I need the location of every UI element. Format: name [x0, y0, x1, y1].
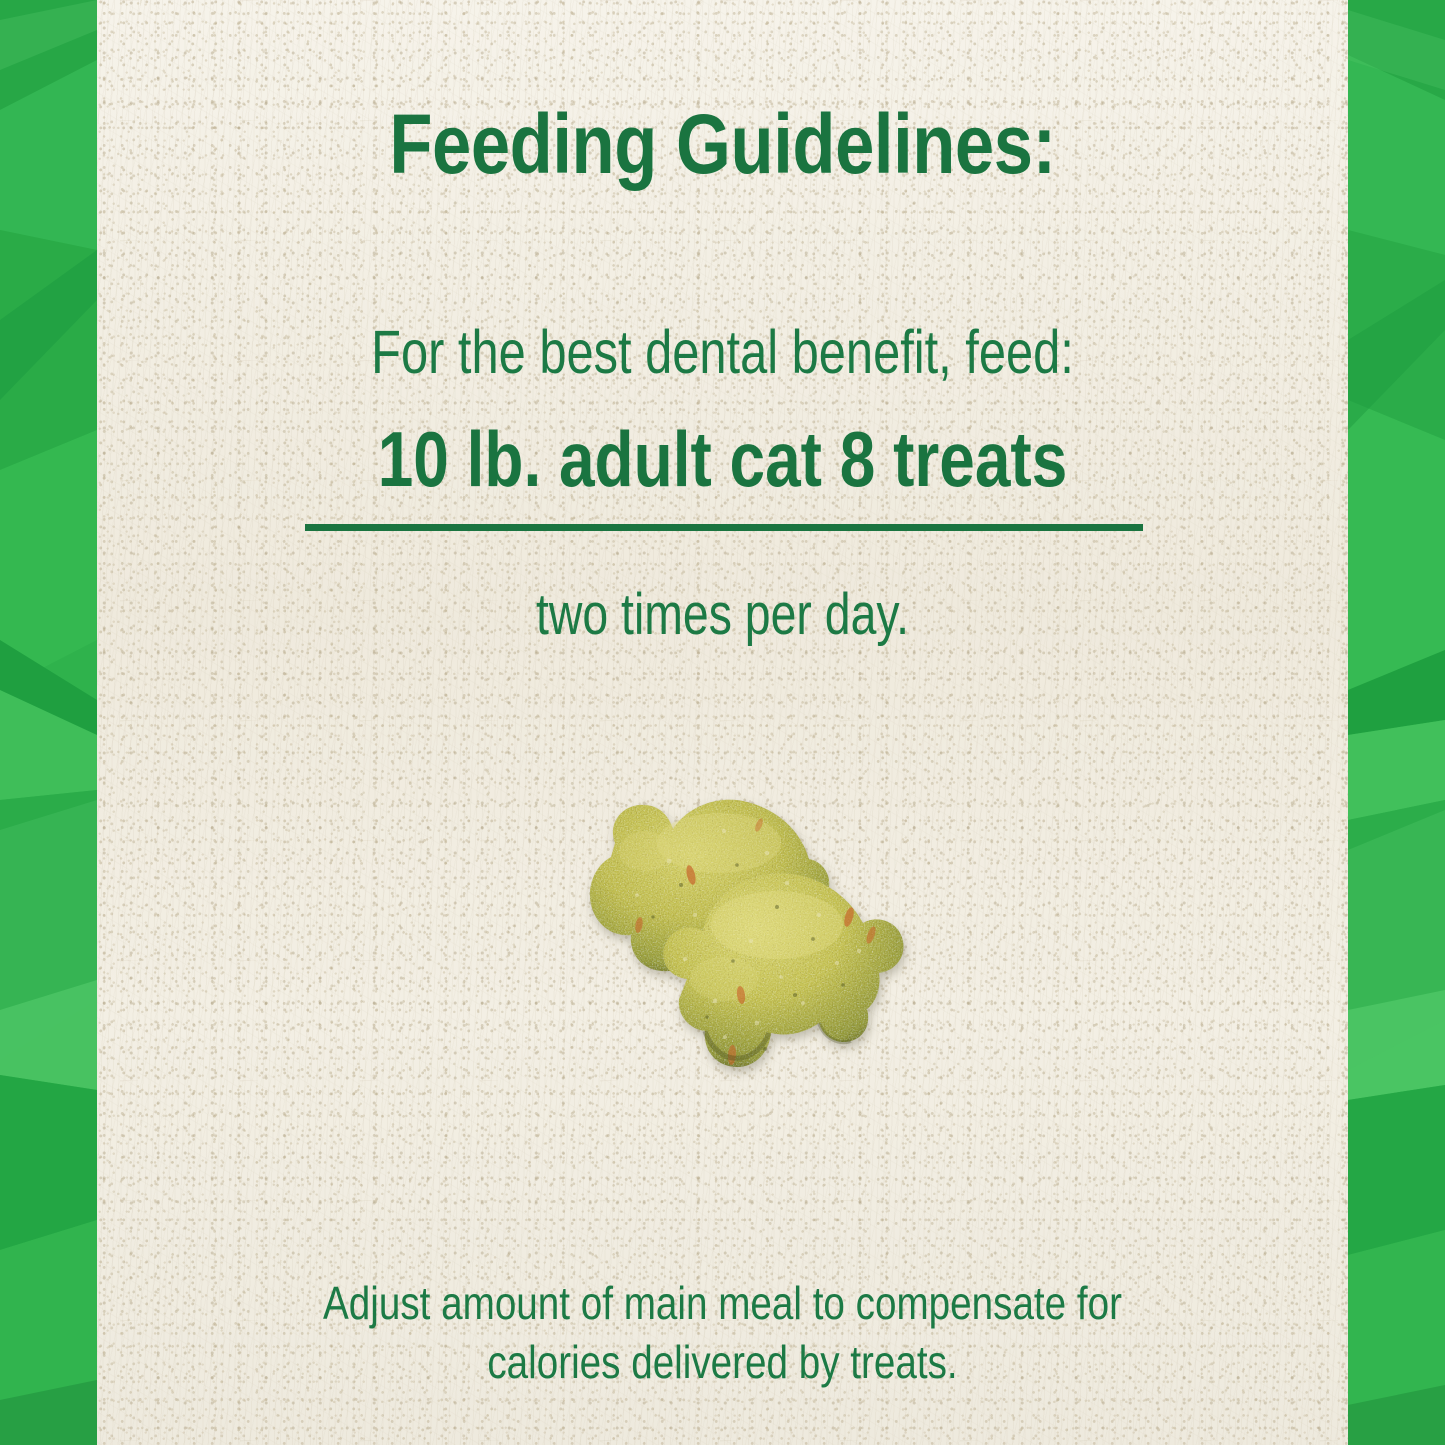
cat-dental-treats-photo	[519, 765, 949, 1160]
footnote-line-2: calories delivered by treats.	[197, 1333, 1248, 1392]
footnote-line-1: Adjust amount of main meal to compensate…	[197, 1274, 1248, 1333]
feeding-guidelines-panel: Feeding Guidelines: For the best dental …	[0, 0, 1445, 1445]
frequency-text: two times per day.	[222, 586, 1223, 644]
page-title: Feeding Guidelines:	[197, 102, 1248, 186]
green-faceted-band-right	[1348, 0, 1445, 1445]
lead-instruction-text: For the best dental benefit, feed:	[222, 322, 1223, 383]
footnote-text: Adjust amount of main meal to compensate…	[197, 1274, 1248, 1392]
content-column: Feeding Guidelines: For the best dental …	[97, 0, 1348, 1445]
dosage-underline-rule	[305, 524, 1143, 531]
dosage-text: 10 lb. adult cat 8 treats	[210, 420, 1236, 498]
green-faceted-band-left	[0, 0, 97, 1445]
